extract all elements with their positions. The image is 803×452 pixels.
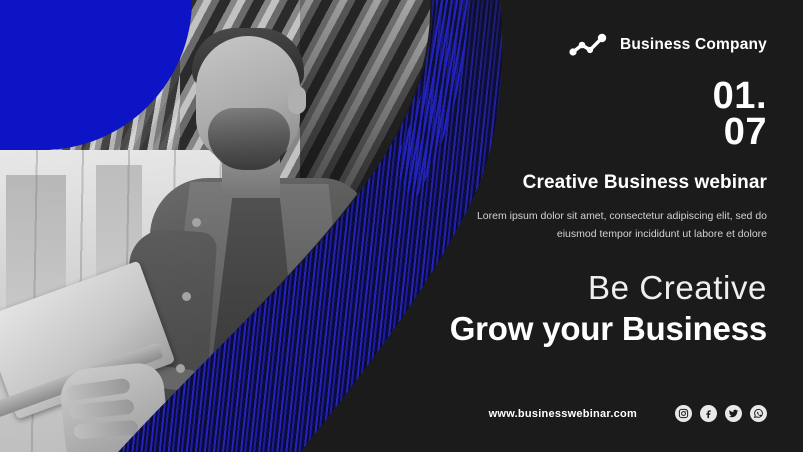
event-date-day: 01. <box>323 78 767 114</box>
photo-person-ear <box>288 86 306 114</box>
event-description-line-2: eiusmod tempor incididunt ut labore et d… <box>323 226 767 243</box>
slide-content: Business Company 01. 07 Creative Busines… <box>323 0 803 452</box>
event-description-line-1: Lorem ipsum dolor sit amet, consectetur … <box>323 208 767 225</box>
brand-name: Business Company <box>620 36 767 54</box>
presentation-slide: Business Company 01. 07 Creative Busines… <box>0 0 803 452</box>
slogan: Be Creative Grow your Business <box>323 269 767 349</box>
facebook-icon[interactable] <box>700 405 717 422</box>
event-title: Creative Business webinar <box>323 172 767 194</box>
website-url[interactable]: www.businesswebinar.com <box>489 408 637 420</box>
event-description: Lorem ipsum dolor sit amet, consectetur … <box>323 208 767 243</box>
slogan-line-1: Be Creative <box>323 269 767 308</box>
slogan-line-2: Grow your Business <box>323 310 767 349</box>
event-date-month: 07 <box>323 114 767 150</box>
slide-footer: www.businesswebinar.com <box>489 405 767 422</box>
twitter-icon[interactable] <box>725 405 742 422</box>
instagram-icon[interactable] <box>675 405 692 422</box>
event-date: 01. 07 <box>323 78 767 150</box>
photo-jacket-button <box>176 364 185 373</box>
social-links <box>675 405 767 422</box>
photo-jacket-button <box>192 218 201 227</box>
brand-lockup: Business Company <box>323 0 767 58</box>
photo-jacket-button <box>182 292 191 301</box>
photo-person-beard <box>208 108 290 170</box>
whatsapp-icon[interactable] <box>750 405 767 422</box>
analytics-line-chart-icon <box>569 32 609 58</box>
